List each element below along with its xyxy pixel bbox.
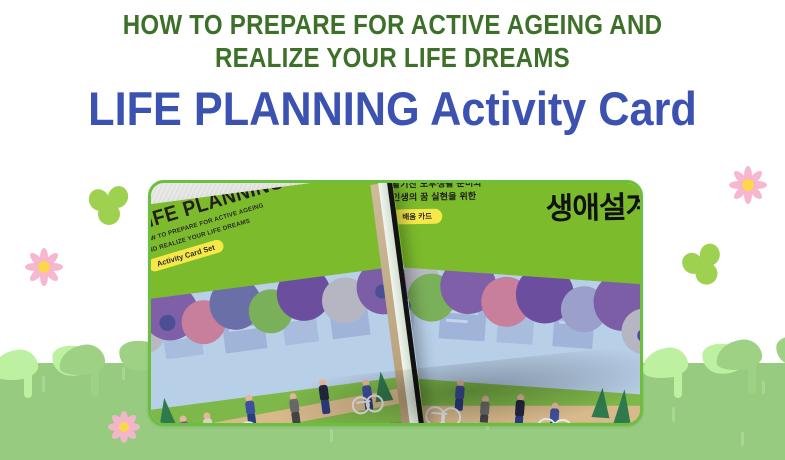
grass-blade [330, 429, 333, 442]
flower-icon [105, 408, 143, 446]
grass-blade [42, 376, 45, 392]
box-text-korean: 활기찬 노후생활 준비와 인생의 꿈 실현을 위한 배움 카드 생애설계 [392, 180, 641, 224]
sprout-stem [91, 359, 99, 397]
sprout-stem [748, 354, 756, 394]
grass-blade [672, 407, 675, 422]
flower-icon [22, 245, 66, 289]
poster-subtitle: HOW TO PREPARE FOR ACTIVE AGEING AND REA… [55, 0, 730, 74]
grass-blade [741, 432, 744, 446]
park-bench [262, 423, 306, 426]
grass-blade [762, 381, 765, 394]
grass-blade [122, 367, 125, 380]
poster-subtitle-line1: HOW TO PREPARE FOR ACTIVE AGEING AND [123, 9, 663, 40]
clover-leaf-icon [678, 240, 730, 291]
poster-title: LIFE PLANNING Activity Card [31, 74, 753, 135]
flower-icon [726, 163, 770, 207]
conifer-tree [155, 397, 177, 426]
poster-subtitle-line2: REALIZE YOUR LIFE DREAMS [55, 41, 730, 74]
sprout-stem [24, 364, 32, 398]
clover-leaf-icon [88, 186, 130, 226]
poster-canvas: HOW TO PREPARE FOR ACTIVE AGEING AND REA… [0, 0, 785, 460]
poster-title-bold: LIFE PLANNING [88, 82, 420, 135]
box-title-korean: 생애설계 [545, 182, 643, 228]
product-photo: 활기찬 노후생활 준비와 인생의 꿈 실현을 위한 배움 카드 생애설계 [148, 180, 643, 426]
box-badge: 배움 카드 [392, 209, 442, 225]
sprout-stem [674, 362, 682, 398]
poster-heading-block: HOW TO PREPARE FOR ACTIVE AGEING AND REA… [0, 0, 785, 135]
poster-title-regular: Activity Card [430, 82, 697, 135]
